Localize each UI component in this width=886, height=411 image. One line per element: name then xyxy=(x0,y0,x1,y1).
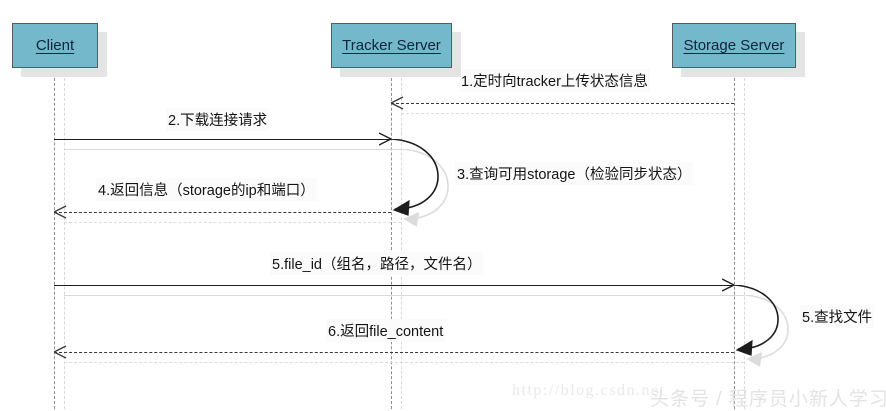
message-5b-label: 5.查找文件 xyxy=(800,305,874,328)
actor-storage-box[interactable]: Storage Server xyxy=(672,23,796,68)
actor-client-box[interactable]: Client xyxy=(12,23,98,68)
message-5-line xyxy=(54,285,734,286)
message-4-label: 4.返回信息（storage的ip和端口） xyxy=(96,178,317,201)
message-2-line-shadow xyxy=(64,149,401,150)
message-1-line-shadow xyxy=(401,113,744,114)
actor-tracker[interactable]: Tracker Server xyxy=(331,23,452,68)
lifeline-storage xyxy=(734,68,735,409)
lifeline-tracker xyxy=(391,68,392,409)
watermark-site: 头条号 / 程序员小新人学习 xyxy=(650,384,886,411)
lifeline-tracker-shadow xyxy=(401,78,402,409)
message-1-line xyxy=(391,103,734,104)
message-4-line xyxy=(54,212,391,213)
message-5b-selfloop xyxy=(734,285,810,357)
message-5-label: 5.file_id（组名，路径，文件名） xyxy=(270,252,483,275)
actor-tracker-box[interactable]: Tracker Server xyxy=(331,23,452,68)
actor-storage-label: Storage Server xyxy=(684,37,785,54)
watermark-url: http://blog.csdn.net xyxy=(512,382,666,400)
message-3-label: 3.查询可用storage（检验同步状态） xyxy=(455,162,693,185)
message-6-label: 6.返回file_content xyxy=(326,319,445,342)
message-2-line xyxy=(54,139,391,140)
actor-client-label: Client xyxy=(36,37,74,54)
actor-tracker-label: Tracker Server xyxy=(342,37,441,54)
sequence-diagram-canvas: 1.定时向tracker上传状态信息 2.下载连接请求 3.查询可用storag… xyxy=(0,0,886,409)
message-2-label: 2.下载连接请求 xyxy=(166,108,269,131)
message-5-line-shadow xyxy=(64,295,744,296)
actor-client[interactable]: Client xyxy=(12,23,98,68)
message-1-label: 1.定时向tracker上传状态信息 xyxy=(459,69,650,92)
message-6-line xyxy=(54,352,734,353)
message-4-line-shadow xyxy=(64,222,401,223)
message-6-line-shadow xyxy=(64,362,744,363)
actor-storage[interactable]: Storage Server xyxy=(672,23,796,68)
